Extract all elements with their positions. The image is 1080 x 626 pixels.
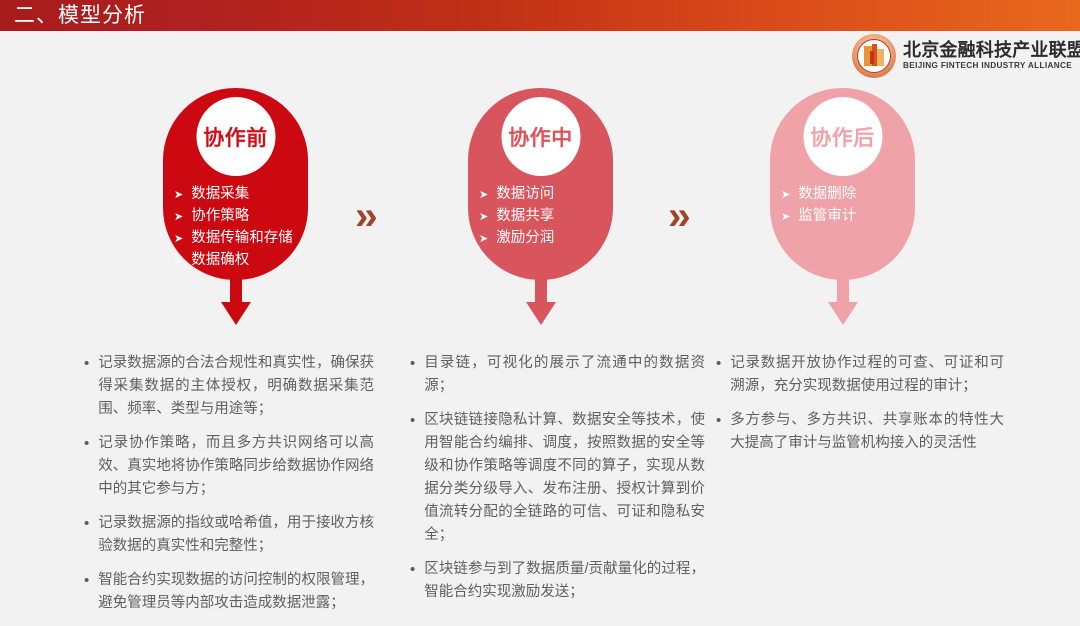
list-item-label: 数据传输和存储 <box>191 228 293 249</box>
stage-pill[interactable]: 协作后 ➤ 数据删除 ➤ 监管审计 <box>770 88 915 280</box>
list-item: • 记录数据源的合法合规性和真实性，确保获得采集数据的主体授权，明确数据采集范围… <box>84 352 374 421</box>
arrow-head <box>526 302 556 325</box>
bullet-text: 区块链链接隐私计算、数据安全等技术，使用智能合约编排、调度，按照数据的安全等级和… <box>424 409 705 547</box>
arrow-shaft <box>837 274 849 304</box>
list-item: ➤ 数据确权 <box>174 250 302 272</box>
list-item: ➤ 数据采集 <box>174 184 302 206</box>
logo-name-en: BEIJING FINTECH INDUSTRY ALLIANCE <box>903 62 1080 70</box>
bullet-dot-icon: • <box>84 569 89 592</box>
column-after: • 记录数据开放协作过程的可查、可证和可溯源，充分实现数据使用过程的审计； • … <box>716 352 1004 466</box>
bullet-dot-icon: • <box>410 558 415 581</box>
list-item: ➤ 协作策略 <box>174 206 302 228</box>
bullet-text: 记录数据源的指纹或哈希值，用于接收方核验数据的真实性和完整性； <box>98 512 374 558</box>
bullet-dot-icon: • <box>84 352 89 375</box>
bullet-text: 记录数据开放协作过程的可查、可证和可溯源，充分实现数据使用过程的审计； <box>730 352 1004 398</box>
stage-before[interactable]: 协作前 ➤ 数据采集 ➤ 协作策略 ➤ 数据传输和存储 ➤ 数据确权 <box>163 88 308 280</box>
arrow-bullet-icon: ➤ <box>781 207 790 228</box>
logo-text: 北京金融科技产业联盟 BEIJING FINTECH INDUSTRY ALLI… <box>903 41 1080 70</box>
list-item: ➤ 数据删除 <box>781 184 909 206</box>
list-item-label: 数据采集 <box>191 184 249 205</box>
bullet-dot-icon: • <box>84 512 89 535</box>
list-item: ➤ 激励分润 <box>479 228 607 250</box>
bullet-dot-icon: • <box>410 409 415 432</box>
stage-after[interactable]: 协作后 ➤ 数据删除 ➤ 监管审计 <box>770 88 915 280</box>
stage-diagram: 协作前 ➤ 数据采集 ➤ 协作策略 ➤ 数据传输和存储 ➤ 数据确权 <box>0 88 1080 338</box>
arrow-head <box>828 302 858 325</box>
list-item-label: 监管审计 <box>798 206 856 227</box>
bullet-text: 多方参与、多方共识、共享账本的特性大大提高了审计与监管机构接入的灵活性 <box>730 409 1004 455</box>
glyph-bar <box>870 51 874 64</box>
arrow-bullet-icon: ➤ <box>174 229 183 250</box>
bullet-dot-icon: • <box>410 352 415 375</box>
bullet-text: 目录链，可视化的展示了流通中的数据资源； <box>424 352 705 398</box>
list-item: • 记录数据开放协作过程的可查、可证和可溯源，充分实现数据使用过程的审计； <box>716 352 1004 398</box>
arrow-shaft <box>535 274 547 304</box>
arrow-bullet-icon: ➤ <box>479 185 488 206</box>
circular-seal-icon <box>852 34 896 78</box>
list-item-label: 激励分润 <box>496 228 554 249</box>
stage-item-list: ➤ 数据采集 ➤ 协作策略 ➤ 数据传输和存储 ➤ 数据确权 <box>174 184 302 272</box>
list-item: • 记录数据源的指纹或哈希值，用于接收方核验数据的真实性和完整性； <box>84 512 374 558</box>
down-arrow-icon <box>828 274 858 326</box>
stage-during[interactable]: 协作中 ➤ 数据访问 ➤ 数据共享 ➤ 激励分润 <box>468 88 613 280</box>
list-item: • 智能合约实现数据的访问控制的权限管理，避免管理员等内部攻击造成数据泄露； <box>84 569 374 615</box>
arrow-head <box>221 302 251 325</box>
stage-label: 协作后 <box>810 122 875 152</box>
list-item: • 记录协作策略，而且多方共识网络可以高效、真实地将协作策略同步给数据协作网络中… <box>84 432 374 501</box>
seal-building-glyph <box>864 44 884 68</box>
stage-label: 协作中 <box>508 122 573 152</box>
stage-item-list: ➤ 数据访问 ➤ 数据共享 ➤ 激励分润 <box>479 184 607 250</box>
stage-label: 协作前 <box>203 122 268 152</box>
down-arrow-icon <box>221 274 251 326</box>
stage-badge: 协作后 <box>803 97 882 176</box>
list-item-label: 数据确权 <box>191 250 249 271</box>
stage-item-list: ➤ 数据删除 ➤ 监管审计 <box>781 184 909 228</box>
bullet-text: 记录数据源的合法合规性和真实性，确保获得采集数据的主体授权，明确数据采集范围、频… <box>98 352 374 421</box>
arrow-bullet-icon: ➤ <box>781 185 790 206</box>
column-before: • 记录数据源的合法合规性和真实性，确保获得采集数据的主体授权，明确数据采集范围… <box>84 352 374 626</box>
list-item: • 目录链，可视化的展示了流通中的数据资源； <box>410 352 705 398</box>
stage-badge: 协作前 <box>196 97 275 176</box>
list-item-label: 数据删除 <box>798 184 856 205</box>
page-title: 二、模型分析 <box>14 1 146 31</box>
arrow-bullet-icon: ➤ <box>174 185 183 206</box>
list-item: • 区块链链接隐私计算、数据安全等技术，使用智能合约编排、调度，按照数据的安全等… <box>410 409 705 547</box>
detail-columns: • 记录数据源的合法合规性和真实性，确保获得采集数据的主体授权，明确数据采集范围… <box>0 352 1080 608</box>
bullet-dot-icon: • <box>716 352 721 375</box>
column-during: • 目录链，可视化的展示了流通中的数据资源； • 区块链链接隐私计算、数据安全等… <box>410 352 705 615</box>
glyph-bar <box>877 49 884 66</box>
bullet-text: 记录协作策略，而且多方共识网络可以高效、真实地将协作策略同步给数据协作网络中的其… <box>98 432 374 501</box>
arrow-bullet-icon: ➤ <box>479 207 488 228</box>
list-item: ➤ 数据传输和存储 <box>174 228 302 250</box>
header-bar: 二、模型分析 <box>0 0 1080 31</box>
list-item-label: 数据共享 <box>496 206 554 227</box>
down-arrow-icon <box>526 274 556 326</box>
stage-pill[interactable]: 协作中 ➤ 数据访问 ➤ 数据共享 ➤ 激励分润 <box>468 88 613 280</box>
arrow-bullet-icon: ➤ <box>479 229 488 250</box>
list-item-label: 数据访问 <box>496 184 554 205</box>
bullet-dot-icon: • <box>84 432 89 455</box>
chevron-right-icon: ›› <box>355 196 374 236</box>
chevron-right-icon: ›› <box>668 196 687 236</box>
stage-pill[interactable]: 协作前 ➤ 数据采集 ➤ 协作策略 ➤ 数据传输和存储 ➤ 数据确权 <box>163 88 308 280</box>
list-item: • 区块链参与到了数据质量/贡献量化的过程，智能合约实现激励发送； <box>410 558 705 604</box>
list-item-label: 协作策略 <box>191 206 249 227</box>
arrow-bullet-icon: ➤ <box>174 251 183 272</box>
stage-badge: 协作中 <box>501 97 580 176</box>
bullet-text: 区块链参与到了数据质量/贡献量化的过程，智能合约实现激励发送； <box>424 558 705 604</box>
list-item: • 多方参与、多方共识、共享账本的特性大大提高了审计与监管机构接入的灵活性 <box>716 409 1004 455</box>
bullet-text: 智能合约实现数据的访问控制的权限管理，避免管理员等内部攻击造成数据泄露； <box>98 569 374 615</box>
list-item: ➤ 数据访问 <box>479 184 607 206</box>
logo-name-cn: 北京金融科技产业联盟 <box>903 41 1080 59</box>
arrow-shaft <box>230 274 242 304</box>
arrow-bullet-icon: ➤ <box>174 207 183 228</box>
brand-logo: 北京金融科技产业联盟 BEIJING FINTECH INDUSTRY ALLI… <box>852 33 1070 79</box>
bullet-dot-icon: • <box>716 409 721 432</box>
list-item: ➤ 数据共享 <box>479 206 607 228</box>
list-item: ➤ 监管审计 <box>781 206 909 228</box>
